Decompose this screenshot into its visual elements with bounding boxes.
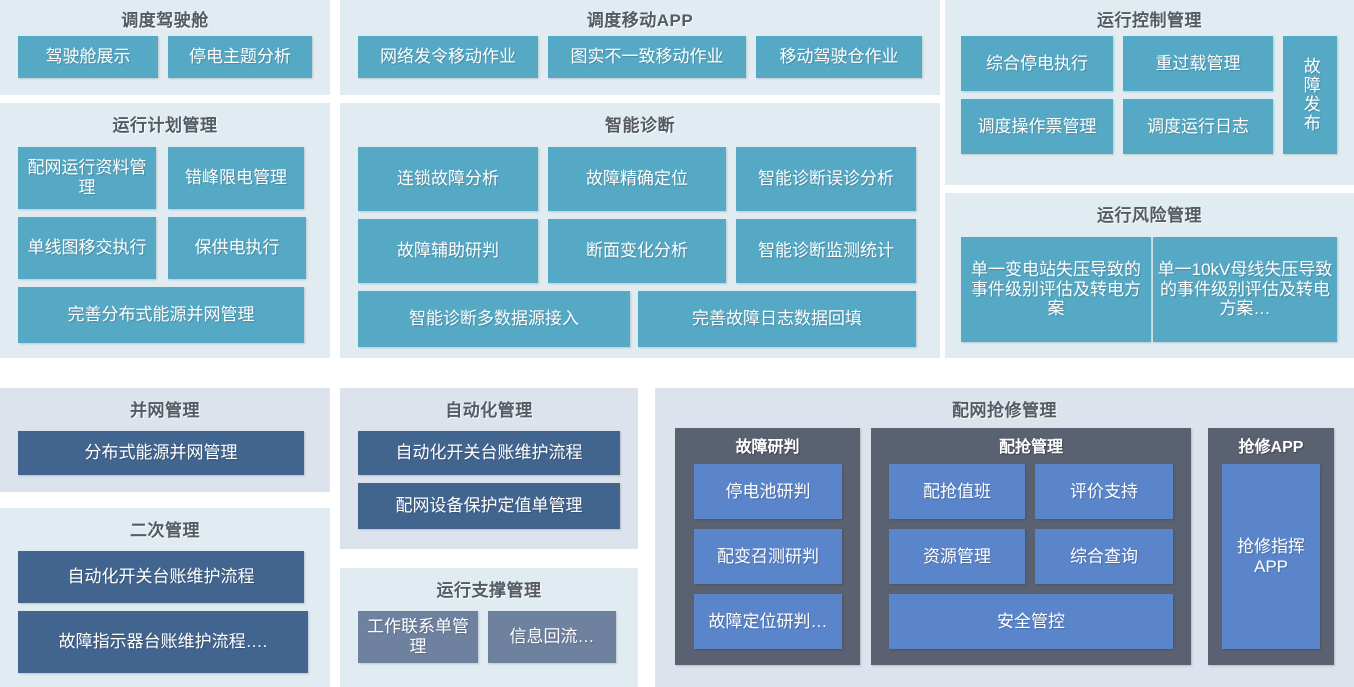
tile-cockpit-display[interactable]: 驾驶舱展示 bbox=[18, 36, 158, 78]
panel-automation-management: 自动化管理 自动化开关台账维护流程 配网设备保护定值单管理 bbox=[340, 388, 638, 549]
panel-title-repair-management: 配网抢修管理 bbox=[655, 402, 1354, 419]
tile-fault-location-judgment[interactable]: 故障定位研判… bbox=[694, 594, 842, 649]
panel-title-dispatch-mobile-app: 调度移动APP bbox=[340, 12, 940, 29]
panel-title-automation-management: 自动化管理 bbox=[340, 402, 638, 419]
tile-guaranteed-power-supply-execution[interactable]: 保供电执行 bbox=[168, 217, 306, 279]
panel-dispatch-cockpit: 调度驾驶舱 驾驶舱展示 停电主题分析 bbox=[0, 0, 330, 95]
tile-intelligent-diagnosis-monitoring-statistics[interactable]: 智能诊断监测统计 bbox=[736, 219, 916, 283]
panel-title-intelligent-diagnosis: 智能诊断 bbox=[340, 117, 940, 134]
tile-dispatch-operation-ticket-management[interactable]: 调度操作票管理 bbox=[961, 99, 1113, 154]
subpanel-repair-dispatch-management: 配抢管理 配抢值班 评价支持 资源管理 综合查询 安全管控 bbox=[871, 428, 1191, 665]
subpanel-title-fault-judgment: 故障研判 bbox=[675, 440, 860, 456]
panel-title-secondary-management: 二次管理 bbox=[0, 522, 330, 539]
tile-comprehensive-outage-execution[interactable]: 综合停电执行 bbox=[961, 36, 1113, 91]
tile-repair-command-app[interactable]: 抢修指挥APP bbox=[1222, 464, 1320, 649]
panel-secondary-management: 二次管理 自动化开关台账维护流程 故障指示器台账维护流程…. bbox=[0, 508, 330, 687]
panel-operation-risk: 运行风险管理 单一变电站失压导致的事件级别评估及转电方案 单一10kV母线失压导… bbox=[945, 193, 1354, 358]
tile-distribution-equipment-protection-setting-management[interactable]: 配网设备保护定值单管理 bbox=[358, 483, 620, 529]
tile-outage-pool-judgment[interactable]: 停电池研判 bbox=[694, 464, 842, 519]
panel-intelligent-diagnosis: 智能诊断 连锁故障分析 故障精确定位 智能诊断误诊分析 故障辅助研判 断面变化分… bbox=[340, 103, 940, 358]
tile-mobile-cockpit-task[interactable]: 移动驾驶仓作业 bbox=[756, 36, 922, 78]
tile-precise-fault-location[interactable]: 故障精确定位 bbox=[548, 147, 726, 211]
tile-peak-shifting-power-limit-management[interactable]: 错峰限电管理 bbox=[168, 147, 304, 209]
tile-distributed-energy-grid-connection-management[interactable]: 分布式能源并网管理 bbox=[18, 431, 304, 475]
architecture-diagram-canvas: 调度驾驶舱 驾驶舱展示 停电主题分析 调度移动APP 网络发令移动作业 图实不一… bbox=[0, 0, 1354, 687]
tile-single-line-diagram-transfer-execution[interactable]: 单线图移交执行 bbox=[18, 217, 156, 279]
tile-automation-switch-ledger-maintenance-process-2[interactable]: 自动化开关台账维护流程 bbox=[358, 431, 620, 475]
tile-section-change-analysis[interactable]: 断面变化分析 bbox=[548, 219, 726, 283]
tile-fault-assisted-judgment[interactable]: 故障辅助研判 bbox=[358, 219, 538, 283]
panel-title-operation-support: 运行支撑管理 bbox=[340, 582, 638, 599]
tile-fault-indicator-ledger-maintenance-process[interactable]: 故障指示器台账维护流程…. bbox=[18, 611, 308, 673]
tile-dispatch-operation-log[interactable]: 调度运行日志 bbox=[1123, 99, 1273, 154]
tile-comprehensive-query[interactable]: 综合查询 bbox=[1035, 529, 1173, 584]
tile-transformer-call-measurement-judgment[interactable]: 配变召测研判 bbox=[694, 529, 842, 584]
tile-safety-control[interactable]: 安全管控 bbox=[889, 594, 1173, 649]
tile-intelligent-diagnosis-misdiagnosis-analysis[interactable]: 智能诊断误诊分析 bbox=[736, 147, 916, 211]
panel-title-operation-plan: 运行计划管理 bbox=[0, 117, 330, 134]
subpanel-fault-judgment: 故障研判 停电池研判 配变召测研判 故障定位研判… bbox=[675, 428, 860, 665]
tile-cascading-fault-analysis[interactable]: 连锁故障分析 bbox=[358, 147, 538, 211]
tile-single-substation-voltage-loss-event-assessment[interactable]: 单一变电站失压导致的事件级别评估及转电方案 bbox=[961, 237, 1151, 342]
panel-operation-control: 运行控制管理 综合停电执行 重过载管理 调度操作票管理 调度运行日志 故障发布 bbox=[945, 0, 1354, 185]
tile-heavy-overload-management[interactable]: 重过载管理 bbox=[1123, 36, 1273, 91]
tile-improve-fault-log-data-backfill[interactable]: 完善故障日志数据回填 bbox=[638, 291, 916, 347]
tile-intelligent-diagnosis-multi-datasource-access[interactable]: 智能诊断多数据源接入 bbox=[358, 291, 630, 347]
subpanel-repair-app: 抢修APP 抢修指挥APP bbox=[1208, 428, 1334, 665]
tile-resource-management[interactable]: 资源管理 bbox=[889, 529, 1025, 584]
subpanel-title-repair-app: 抢修APP bbox=[1208, 440, 1334, 456]
tile-distribution-operation-data-management[interactable]: 配网运行资料管理 bbox=[18, 147, 156, 209]
tile-work-contact-sheet-management[interactable]: 工作联系单管理 bbox=[358, 611, 478, 663]
tile-evaluation-support[interactable]: 评价支持 bbox=[1035, 464, 1173, 519]
panel-operation-plan: 运行计划管理 配网运行资料管理 错峰限电管理 单线图移交执行 保供电执行 完善分… bbox=[0, 103, 330, 358]
panel-grid-connection: 并网管理 分布式能源并网管理 bbox=[0, 388, 330, 492]
tile-automation-switch-ledger-maintenance-process[interactable]: 自动化开关台账维护流程 bbox=[18, 551, 304, 603]
tile-improve-distributed-energy-grid-connection[interactable]: 完善分布式能源并网管理 bbox=[18, 287, 304, 343]
tile-network-dispatch-mobile-task[interactable]: 网络发令移动作业 bbox=[358, 36, 538, 78]
tile-graph-reality-mismatch-mobile-task[interactable]: 图实不一致移动作业 bbox=[548, 36, 746, 78]
tile-single-10kv-busbar-voltage-loss-event-assessment[interactable]: 单一10kV母线失压导致的事件级别评估及转电方案… bbox=[1153, 237, 1337, 342]
tile-outage-topic-analysis[interactable]: 停电主题分析 bbox=[168, 36, 312, 78]
panel-dispatch-mobile-app: 调度移动APP 网络发令移动作业 图实不一致移动作业 移动驾驶仓作业 bbox=[340, 0, 940, 95]
panel-title-grid-connection: 并网管理 bbox=[0, 402, 330, 419]
panel-title-operation-risk: 运行风险管理 bbox=[945, 207, 1354, 224]
subpanel-title-repair-dispatch-management: 配抢管理 bbox=[871, 440, 1191, 456]
tile-fault-publish[interactable]: 故障发布 bbox=[1283, 36, 1337, 154]
panel-title-dispatch-cockpit: 调度驾驶舱 bbox=[0, 12, 330, 29]
panel-title-operation-control: 运行控制管理 bbox=[945, 12, 1354, 29]
panel-operation-support: 运行支撑管理 工作联系单管理 信息回流… bbox=[340, 568, 638, 687]
panel-repair-management: 配网抢修管理 故障研判 停电池研判 配变召测研判 故障定位研判… 配抢管理 配抢… bbox=[655, 388, 1354, 687]
tile-information-backflow[interactable]: 信息回流… bbox=[488, 611, 616, 663]
tile-repair-duty[interactable]: 配抢值班 bbox=[889, 464, 1025, 519]
